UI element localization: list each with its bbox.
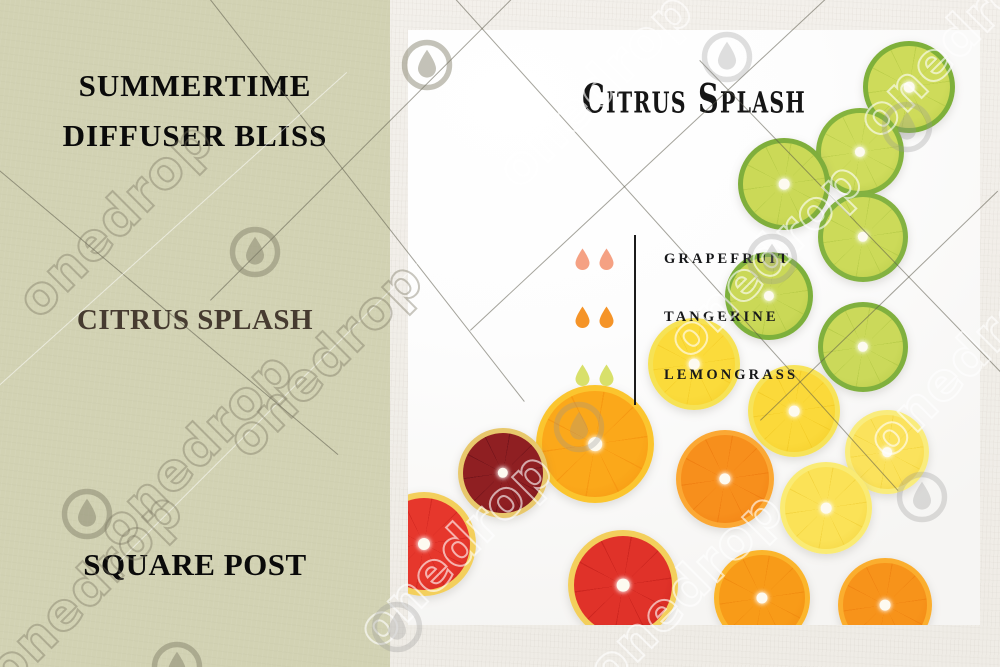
fruit-core [882, 447, 892, 457]
fruit-flesh [681, 435, 768, 522]
fruit-slice-lemon [780, 462, 872, 554]
fruit-flesh [463, 433, 543, 513]
ingredient-label: LEMONGRASS [664, 367, 798, 384]
headline: SUMMERTIME DIFFUSER BLISS [0, 66, 390, 155]
subject-title: CITRUS SPLASH [0, 302, 390, 339]
ingredient-row: TANGERINE [570, 293, 798, 341]
headline-line-2: DIFFUSER BLISS [0, 116, 390, 156]
drop-count-lemongrass [570, 364, 634, 387]
fruit-core [789, 406, 800, 417]
ingredient-list: GRAPEFRUITTANGERINELEMONGRASS [570, 235, 798, 399]
fruit-flesh [743, 143, 825, 225]
drop-count-tangerine [570, 306, 634, 329]
fruit-slice-lime [738, 138, 830, 230]
drop-count-grapefruit [570, 248, 634, 271]
droplet-icon [598, 306, 615, 329]
fruit-core [588, 437, 602, 451]
droplet-icon [574, 306, 591, 329]
poster-canvas: SUMMERTIME DIFFUSER BLISS CITRUS SPLASH … [0, 0, 1000, 667]
droplet-icon [574, 248, 591, 271]
fruit-flesh [821, 113, 899, 191]
ingredient-label: TANGERINE [664, 309, 779, 326]
fruit-core [880, 600, 891, 611]
fruit-core [418, 538, 430, 550]
ingredient-row: LEMONGRASS [570, 351, 798, 399]
fruit-core [617, 579, 630, 592]
square-post-image: Citrus Splash GRAPEFRUITTANGERINELEMONGR… [408, 30, 980, 625]
headline-line-1: SUMMERTIME [79, 68, 312, 103]
fruit-flesh [542, 391, 647, 496]
fruit-flesh [823, 307, 903, 387]
fruit-slice-lime [818, 192, 908, 282]
fruit-slice-lime [818, 302, 908, 392]
fruit-flesh [574, 536, 672, 625]
fruit-flesh [823, 197, 903, 277]
droplet-icon [574, 364, 591, 387]
fruit-slice-orange [536, 385, 654, 503]
droplet-icon [598, 364, 615, 387]
format-label: SQUARE POST [0, 545, 390, 585]
droplet-icon [598, 248, 615, 271]
fruit-core [821, 503, 832, 514]
left-info-panel: SUMMERTIME DIFFUSER BLISS CITRUS SPLASH … [0, 0, 390, 667]
fruit-slice-orange [676, 430, 774, 528]
fruit-core [779, 179, 790, 190]
ingredient-row: GRAPEFRUIT [570, 235, 798, 283]
post-title: Citrus Splash [459, 76, 928, 123]
fruit-slice-blood-orange [458, 428, 548, 518]
fruit-flesh [785, 467, 867, 549]
ingredient-label: GRAPEFRUIT [664, 251, 791, 268]
